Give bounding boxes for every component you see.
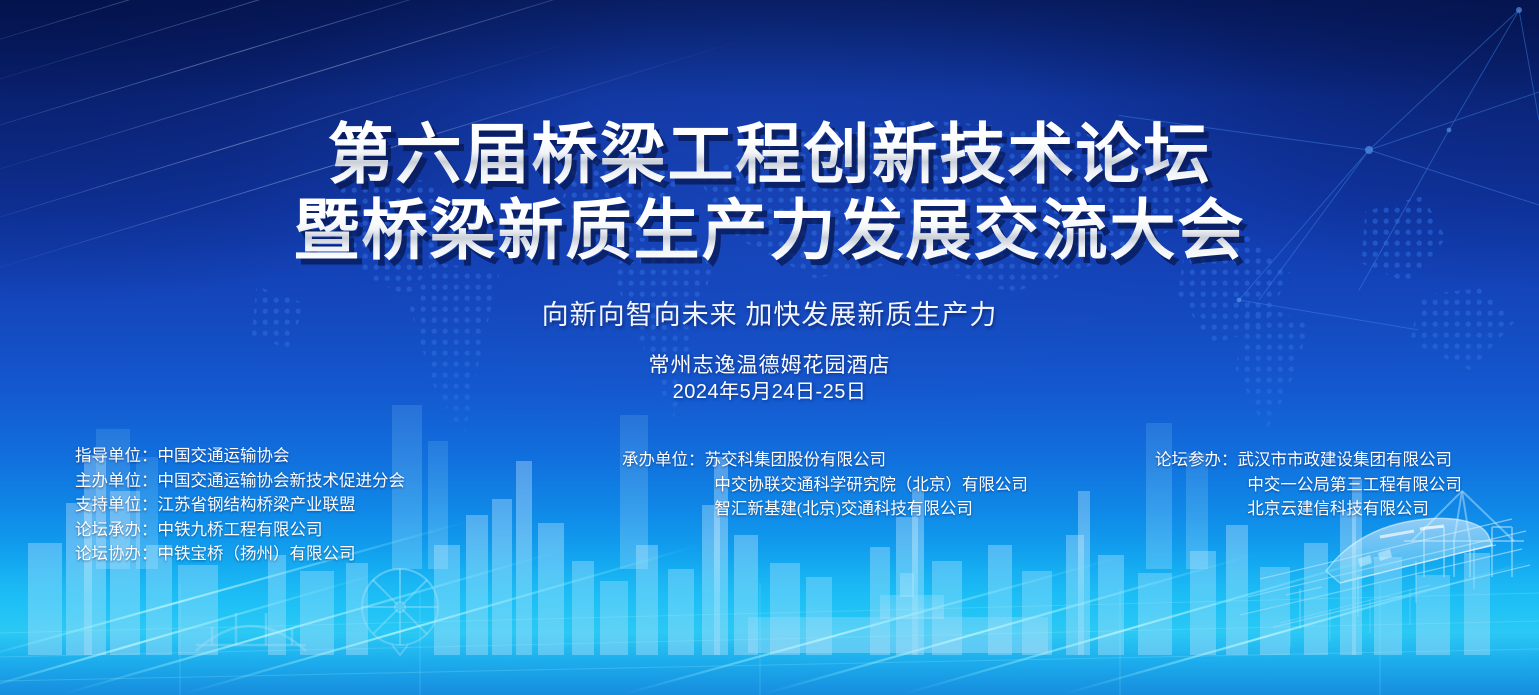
organizer-row: 中交协联交通科学研究院（北京）有限公司 <box>622 473 1028 498</box>
banner-content: 第六届桥梁工程创新技术论坛 暨桥梁新质生产力发展交流大会 向新向智向未来 加快发… <box>0 0 1539 695</box>
organizer-label: 主办单位： <box>75 469 158 494</box>
venue-block: 常州志逸温德姆花园酒店 2024年5月24日-25日 <box>0 352 1539 406</box>
organizer-value: 武汉市市政建设集团有限公司 <box>1238 450 1453 469</box>
organizer-row: 支持单位：江苏省钢结构桥梁产业联盟 <box>75 493 405 518</box>
organizer-label: 论坛参办： <box>1155 448 1238 473</box>
event-date: 2024年5月24日-25日 <box>0 379 1539 406</box>
organizer-value: 苏交科集团股份有限公司 <box>705 450 887 469</box>
organizer-label: 承办单位： <box>622 448 705 473</box>
organizer-value: 江苏省钢结构桥梁产业联盟 <box>158 495 356 514</box>
organizer-row: 中交一公局第三工程有限公司 <box>1155 473 1462 498</box>
organizer-row: 指导单位：中国交通运输协会 <box>75 444 405 469</box>
organizer-row: 论坛协办：中铁宝桥（扬州）有限公司 <box>75 542 405 567</box>
organizer-value: 中国交通运输协会 <box>158 446 290 465</box>
organizer-column-left: 指导单位：中国交通运输协会 主办单位：中国交通运输协会新技术促进分会 支持单位：… <box>75 444 405 567</box>
organizer-label: 支持单位： <box>75 493 158 518</box>
organizer-value: 中国交通运输协会新技术促进分会 <box>158 471 406 490</box>
subtitle: 向新向智向未来 加快发展新质生产力 <box>0 293 1539 332</box>
venue-name: 常州志逸温德姆花园酒店 <box>0 352 1539 379</box>
organizer-label: 论坛承办： <box>75 518 158 543</box>
title-line-2: 暨桥梁新质生产力发展交流大会 <box>0 194 1539 270</box>
conference-banner: 第六届桥梁工程创新技术论坛 暨桥梁新质生产力发展交流大会 向新向智向未来 加快发… <box>0 0 1539 695</box>
organizer-row: 主办单位：中国交通运输协会新技术促进分会 <box>75 469 405 494</box>
organizer-value: 中交一公局第三工程有限公司 <box>1247 475 1462 494</box>
organizer-columns: 指导单位：中国交通运输协会 主办单位：中国交通运输协会新技术促进分会 支持单位：… <box>0 444 1539 564</box>
organizer-row: 论坛承办：中铁九桥工程有限公司 <box>75 518 405 543</box>
organizer-label: 论坛协办： <box>75 542 158 567</box>
organizer-column-right: 论坛参办：武汉市市政建设集团有限公司 中交一公局第三工程有限公司 北京云建信科技… <box>1155 448 1462 522</box>
main-title: 第六届桥梁工程创新技术论坛 暨桥梁新质生产力发展交流大会 <box>0 118 1539 270</box>
organizer-row: 北京云建信科技有限公司 <box>1155 497 1462 522</box>
organizer-label: 指导单位： <box>75 444 158 469</box>
title-line-1: 第六届桥梁工程创新技术论坛 <box>0 118 1539 194</box>
organizer-value: 中交协联交通科学研究院（北京）有限公司 <box>714 475 1028 494</box>
organizer-value: 中铁宝桥（扬州）有限公司 <box>158 544 356 563</box>
organizer-row: 智汇新基建(北京)交通科技有限公司 <box>622 497 1028 522</box>
organizer-value: 中铁九桥工程有限公司 <box>158 520 323 539</box>
organizer-row: 论坛参办：武汉市市政建设集团有限公司 <box>1155 448 1462 473</box>
organizer-value: 智汇新基建(北京)交通科技有限公司 <box>714 499 973 518</box>
organizer-value: 北京云建信科技有限公司 <box>1247 499 1429 518</box>
organizer-row: 承办单位：苏交科集团股份有限公司 <box>622 448 1028 473</box>
organizer-column-middle: 承办单位：苏交科集团股份有限公司 中交协联交通科学研究院（北京）有限公司 智汇新… <box>622 448 1028 522</box>
